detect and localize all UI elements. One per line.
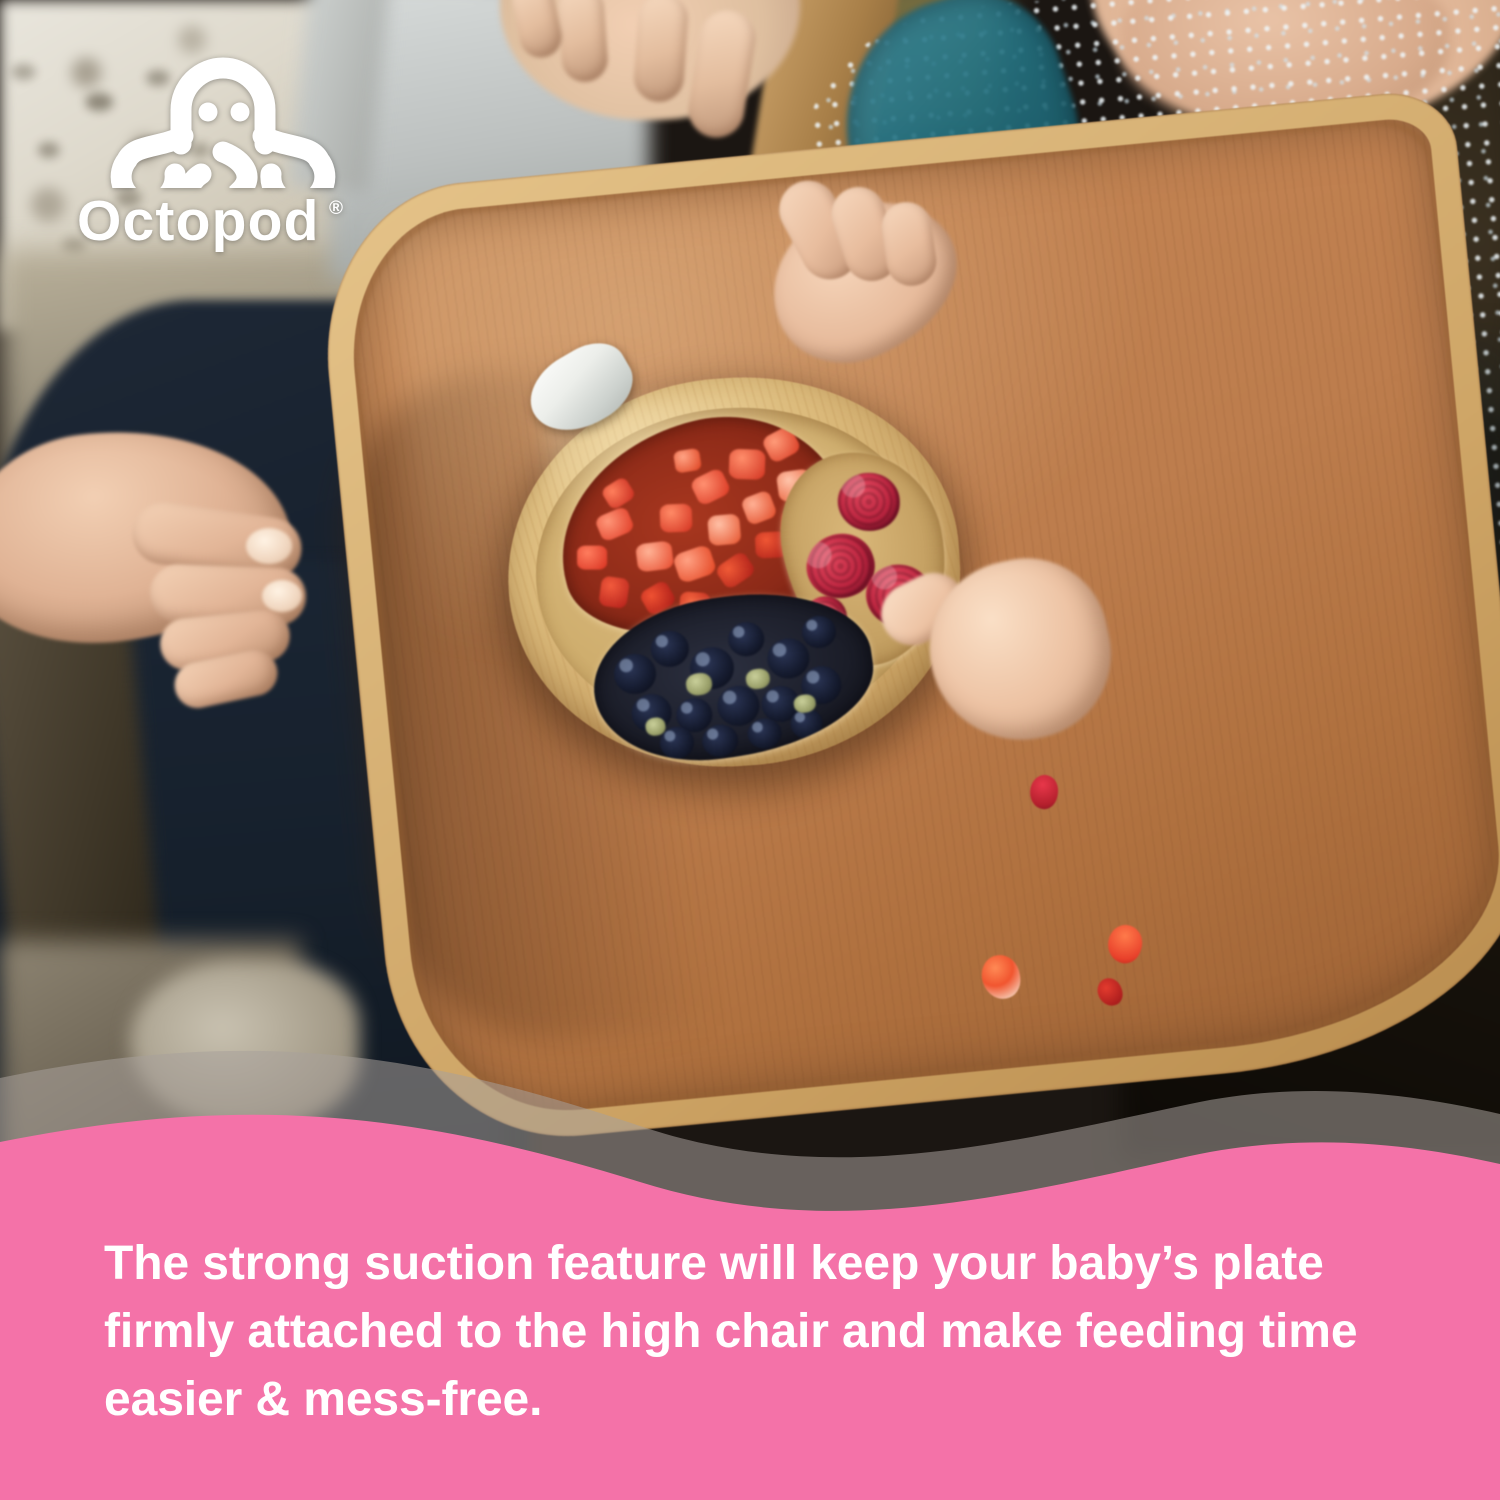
strawberry-piece [660,504,693,533]
brand-name: Octopod [77,189,320,253]
strawberry-piece [689,467,732,507]
blueberry [726,620,766,659]
brand-wordmark: Octopod ® [77,188,375,258]
strawberry-piece [672,544,718,585]
product-marketing-image: The strong suction feature will keep you… [0,0,1500,1500]
banner-text-block: The strong suction feature will keep you… [0,1190,1500,1500]
octopus-logo-icon [75,48,375,188]
strawberry-piece [673,448,702,474]
strawberry-piece [729,449,766,480]
strawberry-piece [594,506,635,543]
strawberry-piece [577,546,607,570]
blueberry [700,722,740,759]
trademark-symbol: ® [329,198,343,219]
logo-eye-right [231,103,250,122]
berry-highlight [685,671,714,696]
blueberry [649,628,692,669]
strawberry-piece [707,513,741,546]
brand-logo: Octopod ® [75,48,375,260]
adult-fingernail [246,528,292,564]
adult-finger [632,0,689,104]
raspberry [838,473,900,531]
strawberry-piece [740,489,778,526]
logo-eye-left [199,103,218,122]
blueberry [611,651,658,696]
strawberry-piece [598,575,630,609]
strawberry-piece [635,540,674,572]
strawberry-piece [600,476,636,511]
adult-finger [557,0,610,83]
banner-headline: The strong suction feature will keep you… [104,1230,1396,1434]
strawberry-piece [714,550,757,591]
adult-fingernail [262,580,302,612]
blueberry [800,614,838,650]
berry-highlight [745,667,772,690]
